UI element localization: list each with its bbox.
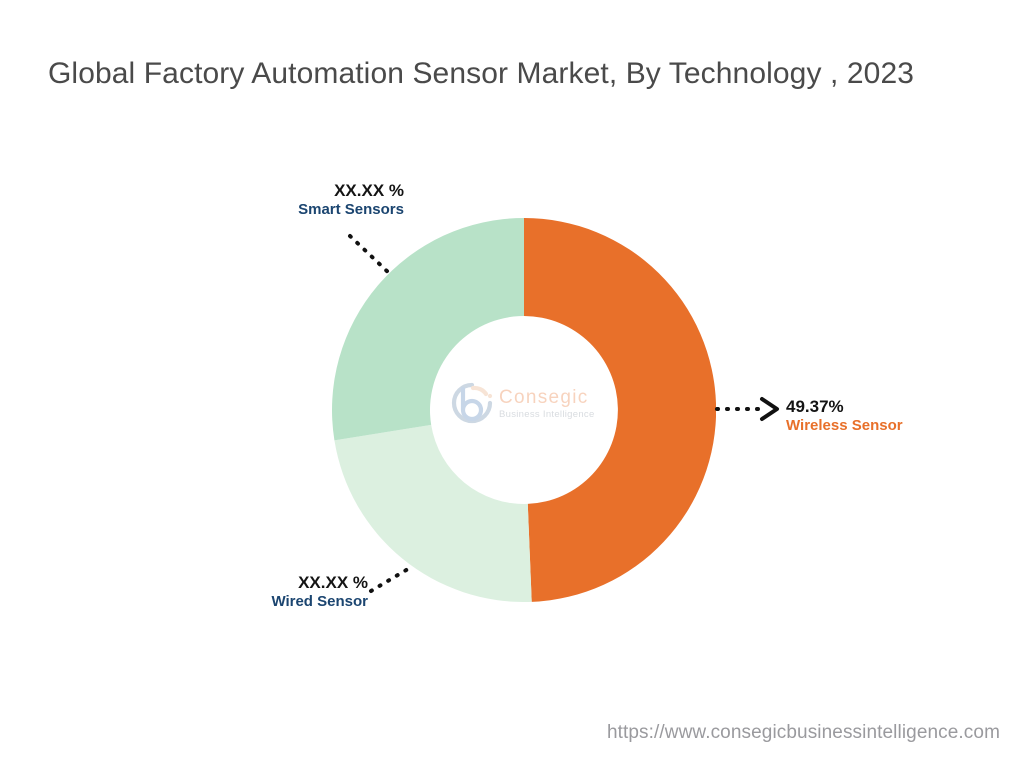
callout-smart-sensors-label: Smart Sensors — [232, 201, 404, 220]
pie-slice-wireless-sensor[interactable] — [524, 218, 716, 602]
donut-chart-svg — [332, 218, 716, 602]
callout-wired-sensor-label: Wired Sensor — [190, 593, 368, 612]
chart-canvas: Global Factory Automation Sensor Market,… — [0, 0, 1024, 768]
callout-wired-sensor-percent: XX.XX % — [190, 572, 368, 593]
callout-wireless-sensor: 49.37% Wireless Sensor — [786, 396, 996, 436]
callout-wireless-sensor-label: Wireless Sensor — [786, 417, 996, 436]
footer-source-url: https://www.consegicbusinessintelligence… — [607, 722, 1000, 744]
callout-wired-sensor: XX.XX % Wired Sensor — [190, 572, 368, 612]
page-title: Global Factory Automation Sensor Market,… — [48, 56, 988, 92]
pie-slice-smart-sensors[interactable] — [332, 218, 524, 440]
callout-smart-sensors-percent: XX.XX % — [232, 180, 404, 201]
callout-wireless-sensor-percent: 49.37% — [786, 396, 996, 417]
donut-chart — [332, 218, 716, 602]
leader-arrowhead-wireless-sensor — [762, 399, 777, 419]
callout-smart-sensors: XX.XX % Smart Sensors — [232, 180, 404, 220]
